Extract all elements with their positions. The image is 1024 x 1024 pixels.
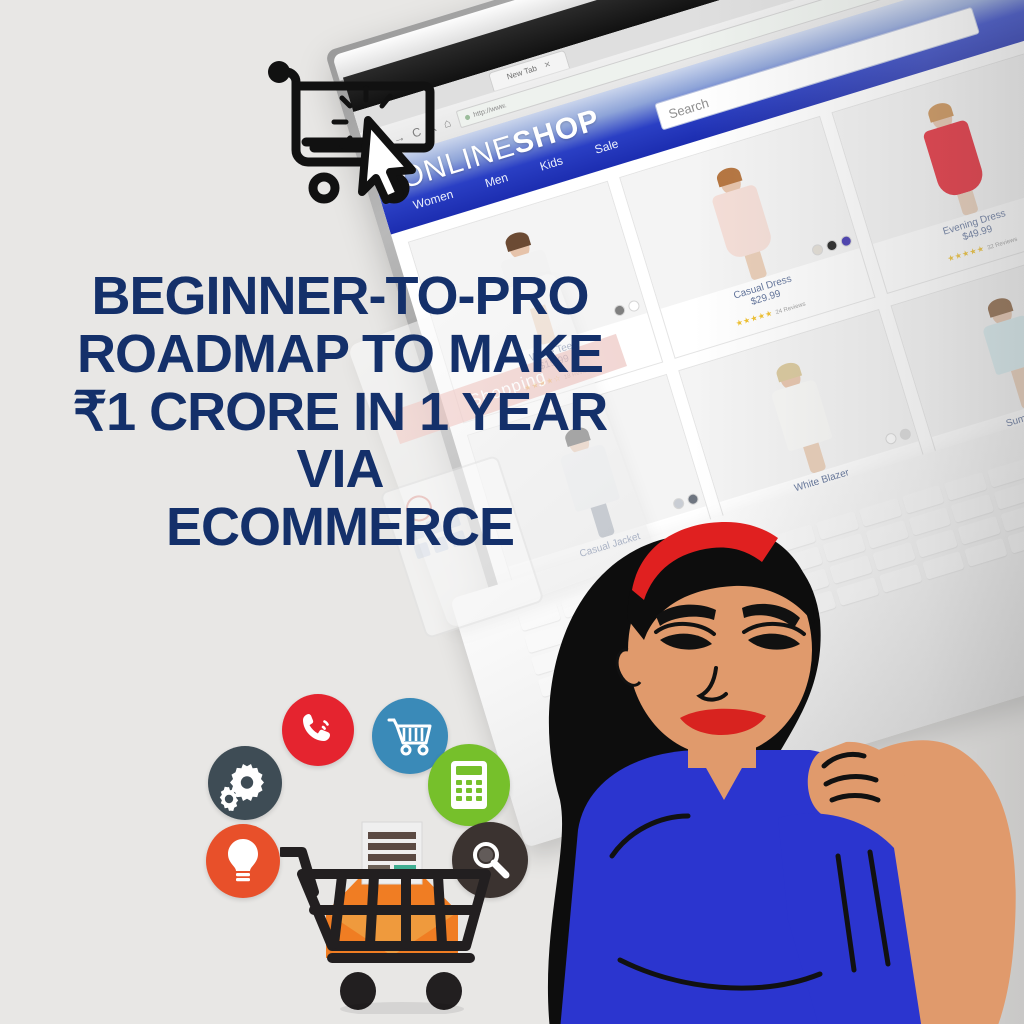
garment — [982, 314, 1024, 375]
headline-line-2: ROADMAP TO MAKE — [0, 326, 680, 384]
model-figure — [917, 99, 994, 221]
gears-icon[interactable] — [208, 746, 282, 820]
lightbulb-icon[interactable] — [206, 824, 280, 898]
model-figure — [765, 359, 841, 479]
star-rating-icon: ★★★★★ — [735, 308, 774, 328]
swatch[interactable] — [898, 428, 912, 442]
swatch[interactable] — [839, 234, 853, 248]
review-count: 32 Reviews — [987, 237, 1018, 252]
swatch[interactable] — [810, 243, 824, 257]
headline-line-3: ₹1 CRORE IN 1 YEAR — [0, 384, 680, 442]
headline-line-4: VIA — [0, 441, 680, 499]
cart-handle-dot — [268, 61, 290, 83]
shopping-cart-click-icon — [262, 58, 448, 210]
swatch[interactable] — [884, 432, 898, 446]
phone-icon[interactable] — [282, 694, 354, 766]
model-legs — [957, 190, 979, 216]
ecommerce-icon-cluster — [206, 694, 546, 1014]
model-hair — [715, 165, 743, 187]
shop-nav-item-kids[interactable]: Kids — [538, 153, 564, 173]
shopping-basket-illustration — [280, 806, 520, 1014]
model-legs — [803, 443, 826, 474]
keyboard-key — [987, 459, 1024, 488]
garment — [771, 379, 833, 452]
model-legs — [1011, 366, 1024, 409]
model-hair — [926, 100, 954, 122]
close-icon[interactable]: ✕ — [543, 59, 552, 70]
model-hair — [774, 360, 802, 382]
poster-root: 14:23 New Tab ✕ ← → — [0, 0, 1024, 1024]
model-figure — [976, 294, 1024, 414]
swatch[interactable] — [825, 239, 839, 253]
model-legs — [745, 251, 768, 281]
star-rating-icon: ★★★★★ — [946, 244, 985, 264]
model-figure — [705, 164, 782, 286]
review-count: 24 Reviews — [775, 301, 806, 316]
address-bar-value: http://www. — [473, 102, 508, 119]
model-hair — [986, 295, 1014, 317]
shop-nav-item-sale[interactable]: Sale — [593, 136, 620, 156]
browser-tab-label: New Tab — [506, 64, 538, 82]
model-hair — [503, 230, 531, 252]
search-placeholder: Search — [667, 95, 711, 121]
color-swatches[interactable] — [884, 428, 912, 446]
garment — [711, 184, 774, 261]
garment — [923, 119, 987, 199]
headline-line-1: BEGINNER-TO-PRO — [0, 268, 680, 326]
shop-nav-item-men[interactable]: Men — [483, 170, 509, 190]
lock-icon — [464, 114, 470, 120]
woman-illustration — [520, 500, 1024, 1024]
